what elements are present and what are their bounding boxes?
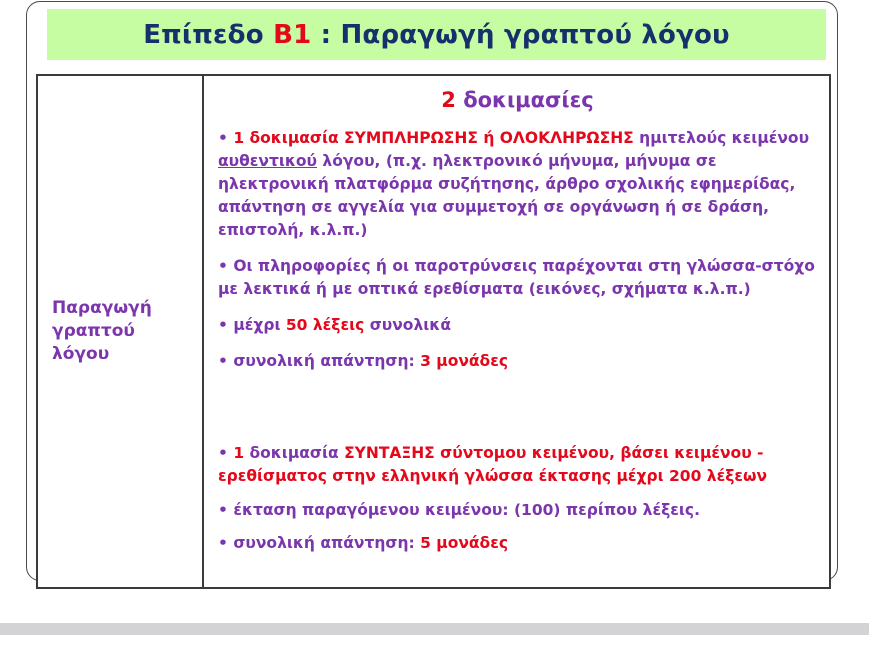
bullet-text-run: ημιτελούς κειμένου <box>639 129 809 147</box>
bullet-item: • έκταση παραγόμενου κειμένου: (100) περ… <box>212 499 823 522</box>
section-heading: 2 δοκιμασίες <box>212 88 823 113</box>
bullet-text-underlined: αυθεντικού <box>218 152 317 170</box>
bullet-text-run: 1 δοκιμασία ΣΥΜΠΛΗΡΩΣΗΣ ή ΟΛΟΚΛΗΡΩΣΗΣ <box>228 129 639 147</box>
skill-label-line2: γραπτού λόγου <box>52 321 135 364</box>
bullet-item: • μέχρι 50 λέξεις συνολικά <box>212 314 823 337</box>
bullet-text-run: Οι πληροφορίες ή οι παροτρύνσεις παρέχον… <box>218 257 815 298</box>
bullet-text-run: μέχρι <box>228 316 286 334</box>
bottom-gray-band <box>0 623 869 635</box>
bullet-text-run: συνολικά <box>364 316 451 334</box>
bullet-text-run: δοκιμασία <box>250 444 345 462</box>
bullet-dot-icon: • <box>218 316 228 334</box>
bullet-group-task-2: • 1 δοκιμασία ΣΥΝΤΑΞΗΣ σύντομου κειμένου… <box>212 442 823 556</box>
bullet-item: • συνολική απάντηση: 5 μονάδες <box>212 532 823 555</box>
bullet-dot-icon: • <box>218 501 228 519</box>
bullet-dot-icon: • <box>218 534 228 552</box>
bullet-dot-icon: • <box>218 129 228 147</box>
title-level-badge: B1 <box>273 20 311 50</box>
title-prefix: Επίπεδο <box>143 20 273 50</box>
section-heading-text: δοκιμασίες <box>456 88 594 112</box>
bullet-text-run: έκταση παραγόμενου κειμένου: (100) περίπ… <box>228 501 700 519</box>
bullet-dot-icon: • <box>218 257 228 275</box>
bullet-item: • 1 δοκιμασία ΣΥΝΤΑΞΗΣ σύντομου κειμένου… <box>212 442 823 488</box>
title-suffix: : Παραγωγή γραπτού λόγου <box>311 20 729 50</box>
page-title: Επίπεδο B1 : Παραγωγή γραπτού λόγου <box>143 22 730 48</box>
bullet-group-task-1: • 1 δοκιμασία ΣΥΜΠΛΗΡΩΣΗΣ ή ΟΛΟΚΛΗΡΩΣΗΣ … <box>212 127 823 372</box>
bullet-text-run: 50 λέξεις <box>286 316 364 334</box>
bullet-text-run: συνολική απάντηση: <box>228 352 420 370</box>
table-cell-task-description: 2 δοκιμασίες • 1 δοκιμασία ΣΥΜΠΛΗΡΩΣΗΣ ή… <box>204 76 829 587</box>
title-banner: Επίπεδο B1 : Παραγωγή γραπτού λόγου <box>47 9 826 60</box>
bullet-item: • συνολική απάντηση: 3 μονάδες <box>212 350 823 373</box>
skill-label-line1: Παραγωγή <box>52 298 152 318</box>
skill-label: Παραγωγή γραπτού λόγου <box>52 297 190 366</box>
bullet-text-run: 3 μονάδες <box>420 352 508 370</box>
bullet-dot-icon: • <box>218 444 228 462</box>
bullet-text-run: συνολική απάντηση: <box>228 534 420 552</box>
bullet-text-run: 1 <box>228 444 250 462</box>
group-spacer <box>212 386 823 428</box>
specification-table: Παραγωγή γραπτού λόγου 2 δοκιμασίες • 1 … <box>36 74 831 589</box>
bullet-item: • Οι πληροφορίες ή οι παροτρύνσεις παρέχ… <box>212 255 823 301</box>
table-cell-skill-name: Παραγωγή γραπτού λόγου <box>38 76 204 587</box>
bullet-text-run: 5 μονάδες <box>420 534 508 552</box>
bullet-item: • 1 δοκιμασία ΣΥΜΠΛΗΡΩΣΗΣ ή ΟΛΟΚΛΗΡΩΣΗΣ … <box>212 127 823 242</box>
bullet-dot-icon: • <box>218 352 228 370</box>
section-heading-count: 2 <box>441 88 456 112</box>
